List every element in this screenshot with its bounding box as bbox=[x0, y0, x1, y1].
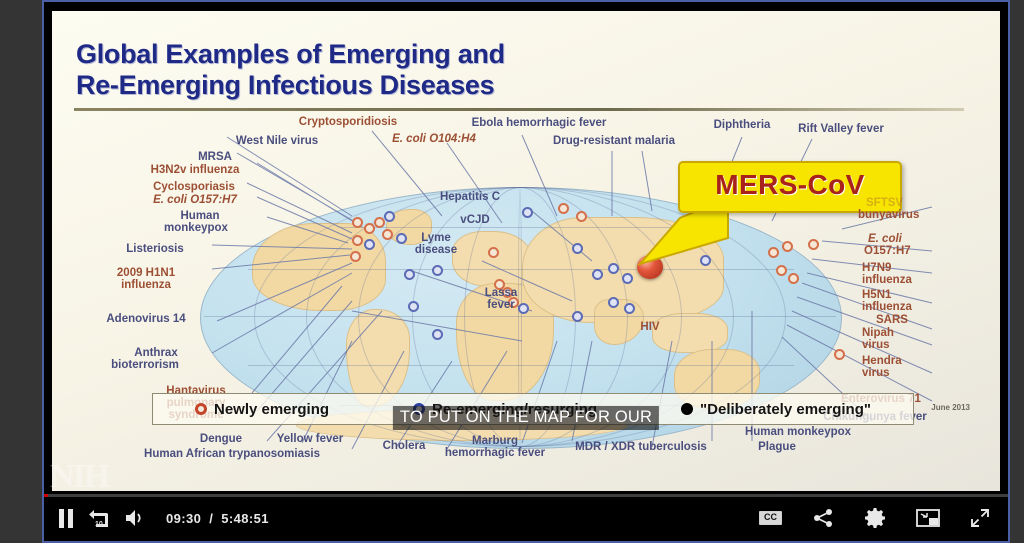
current-time: 09:30 bbox=[166, 511, 201, 526]
marker-re-emerging bbox=[592, 269, 603, 280]
label-e-coli-o157h7-asia: O157:H7 bbox=[864, 245, 911, 257]
label-lyme-disease: disease bbox=[396, 244, 476, 256]
label-cyclosporiasis: Cyclosporiasis bbox=[134, 181, 254, 193]
window-right-gutter bbox=[1010, 0, 1024, 543]
label-hendra-virus: virus bbox=[862, 367, 890, 379]
marker-newly-emerging bbox=[576, 211, 587, 222]
marker-re-emerging bbox=[432, 265, 443, 276]
nih-watermark: NIH bbox=[50, 458, 108, 494]
label-nipah-virus: virus bbox=[862, 339, 890, 351]
gear-icon bbox=[864, 507, 886, 529]
label-2009-h1n1: 2009 H1N1 bbox=[90, 267, 202, 279]
marker-newly-emerging bbox=[350, 251, 361, 262]
window-left-gutter bbox=[0, 0, 42, 543]
marker-newly-emerging bbox=[352, 217, 363, 228]
title-line-1: Global Examples of Emerging and bbox=[76, 39, 836, 70]
label-h3n2v-influenza: H3N2v influenza bbox=[130, 164, 260, 176]
label-yellow-fever: Yellow fever bbox=[260, 433, 360, 445]
legend-item-newly-emerging: Newly emerging bbox=[195, 401, 329, 418]
label-2009-h1n1-influenza: influenza bbox=[90, 279, 202, 291]
marker-re-emerging bbox=[404, 269, 415, 280]
volume-icon bbox=[124, 509, 146, 527]
marker-newly-emerging bbox=[352, 235, 363, 246]
label-hepatitis-c: Hepatitis C bbox=[420, 191, 520, 203]
marker-newly-emerging bbox=[788, 273, 799, 284]
controls-left-group: 10 09:30 / 5:48:51 bbox=[58, 503, 269, 533]
marker-newly-emerging bbox=[488, 247, 499, 258]
share-button[interactable] bbox=[812, 508, 834, 528]
marker-re-emerging bbox=[432, 329, 443, 340]
video-player[interactable]: Global Examples of Emerging and Re-Emerg… bbox=[42, 0, 1010, 543]
page-title: Global Examples of Emerging and Re-Emerg… bbox=[76, 39, 836, 100]
label-lyme: Lyme bbox=[400, 232, 472, 244]
label-e-coli-asia: E. coli bbox=[868, 233, 902, 245]
label-h7n9-influenza: influenza bbox=[862, 274, 912, 286]
video-viewport[interactable]: Global Examples of Emerging and Re-Emerg… bbox=[44, 2, 1008, 494]
progress-bar[interactable] bbox=[44, 494, 1008, 497]
label-adenovirus-14: Adenovirus 14 bbox=[80, 313, 212, 325]
label-sftsv-bunyavirus: bunyavirus bbox=[858, 209, 919, 221]
marker-newly-emerging bbox=[374, 217, 385, 228]
label-lassa: Lassa bbox=[466, 287, 536, 299]
marker-re-emerging bbox=[384, 211, 395, 222]
label-h5n1-influenza: influenza bbox=[862, 301, 912, 313]
label-e-coli-o157h7-americas: E. coli O157:H7 bbox=[132, 194, 258, 206]
label-h5n1: H5N1 bbox=[862, 289, 891, 301]
marker-re-emerging bbox=[572, 311, 583, 322]
label-dengue: Dengue bbox=[180, 433, 262, 445]
label-anthrax-bioterrorism: bioterrorism bbox=[78, 359, 212, 371]
player-control-bar[interactable]: 10 09:30 / 5:48:51 CC bbox=[44, 494, 1008, 541]
marker-re-emerging bbox=[522, 207, 533, 218]
settings-button[interactable] bbox=[864, 507, 886, 529]
pause-bar-right bbox=[68, 509, 73, 528]
fullscreen-button[interactable] bbox=[970, 508, 990, 528]
label-hiv: HIV bbox=[624, 321, 676, 333]
label-anthrax: Anthrax bbox=[100, 347, 212, 359]
label-west-nile-virus: West Nile virus bbox=[222, 135, 332, 147]
miniplayer-button[interactable] bbox=[916, 508, 940, 528]
closed-captions-button[interactable]: CC bbox=[759, 511, 782, 525]
fullscreen-icon bbox=[970, 508, 990, 528]
marker-newly-emerging bbox=[808, 239, 819, 250]
title-line-2: Re-Emerging Infectious Diseases bbox=[76, 70, 836, 101]
label-human-african-trypanosomiasis: Human African trypanosomiasis bbox=[110, 448, 354, 460]
share-icon bbox=[812, 508, 834, 528]
marker-newly-emerging bbox=[364, 223, 375, 234]
pause-bar-left bbox=[59, 509, 64, 528]
label-human-monkeypox-africa: Human monkeypox bbox=[722, 426, 874, 438]
marker-re-emerging bbox=[364, 239, 375, 250]
label-monkeypox-americas: monkeypox bbox=[138, 222, 254, 234]
label-marburg-hemorrhagic-fever: hemorrhagic fever bbox=[422, 447, 568, 459]
progress-bar-played bbox=[44, 494, 48, 497]
marker-newly-emerging bbox=[558, 203, 569, 214]
rewind-10-label: 10 bbox=[95, 521, 103, 528]
time-display: 09:30 / 5:48:51 bbox=[166, 511, 269, 526]
marker-re-emerging bbox=[608, 297, 619, 308]
label-ebola-hemorrhagic-fever: Ebola hemorrhagic fever bbox=[444, 117, 634, 129]
label-listeriosis: Listeriosis bbox=[100, 243, 210, 255]
duration: 5:48:51 bbox=[221, 511, 269, 526]
title-divider bbox=[74, 108, 964, 111]
deliberately-emerging-dot-icon bbox=[681, 403, 693, 415]
label-human: Human bbox=[148, 210, 252, 222]
label-cryptosporidiosis: Cryptosporidiosis bbox=[274, 116, 422, 128]
miniplayer-icon bbox=[916, 508, 940, 528]
label-marburg: Marburg bbox=[450, 435, 540, 447]
label-sars: SARS bbox=[876, 314, 908, 326]
legend-label-deliberately-emerging: "Deliberately emerging" bbox=[700, 401, 871, 418]
time-separator: / bbox=[209, 511, 213, 526]
slide-date-stamp: June 2013 bbox=[931, 403, 970, 412]
marker-newly-emerging bbox=[834, 349, 845, 360]
marker-newly-emerging bbox=[776, 265, 787, 276]
label-hendra: Hendra bbox=[862, 355, 902, 367]
marker-re-emerging bbox=[622, 273, 633, 284]
cc-icon: CC bbox=[759, 511, 782, 525]
label-sftsv: SFTSV bbox=[866, 197, 903, 209]
caption-overlay: TO PUT ON THE MAP FOR OUR bbox=[393, 406, 659, 430]
legend-label-newly-emerging: Newly emerging bbox=[214, 401, 329, 418]
label-rift-valley-fever: Rift Valley fever bbox=[776, 123, 906, 135]
label-mrsa: MRSA bbox=[180, 151, 250, 163]
marker-re-emerging bbox=[408, 301, 419, 312]
pause-button[interactable] bbox=[58, 509, 74, 528]
marker-newly-emerging bbox=[768, 247, 779, 258]
label-vcjd: vCJD bbox=[442, 214, 508, 226]
newly-emerging-dot-icon bbox=[195, 403, 207, 415]
marker-re-emerging bbox=[624, 303, 635, 314]
label-h7n9: H7N9 bbox=[862, 262, 891, 274]
label-nipah: Nipah bbox=[862, 327, 894, 339]
label-mdr-xdr-tuberculosis: MDR / XDR tuberculosis bbox=[548, 441, 734, 453]
rewind-10-button[interactable]: 10 bbox=[88, 508, 110, 528]
legend-item-deliberately-emerging: "Deliberately emerging" bbox=[681, 401, 871, 418]
label-plague: Plague bbox=[740, 441, 814, 453]
label-lassa-fever: fever bbox=[466, 299, 536, 311]
label-drug-resistant-malaria: Drug-resistant malaria bbox=[530, 135, 698, 147]
marker-re-emerging bbox=[572, 243, 583, 254]
app-root: Global Examples of Emerging and Re-Emerg… bbox=[0, 0, 1024, 543]
controls-right-group: CC bbox=[759, 503, 990, 533]
marker-newly-emerging bbox=[382, 229, 393, 240]
marker-newly-emerging bbox=[782, 241, 793, 252]
label-e-coli-o104h4: E. coli O104:H4 bbox=[370, 133, 498, 145]
volume-button[interactable] bbox=[124, 509, 146, 527]
